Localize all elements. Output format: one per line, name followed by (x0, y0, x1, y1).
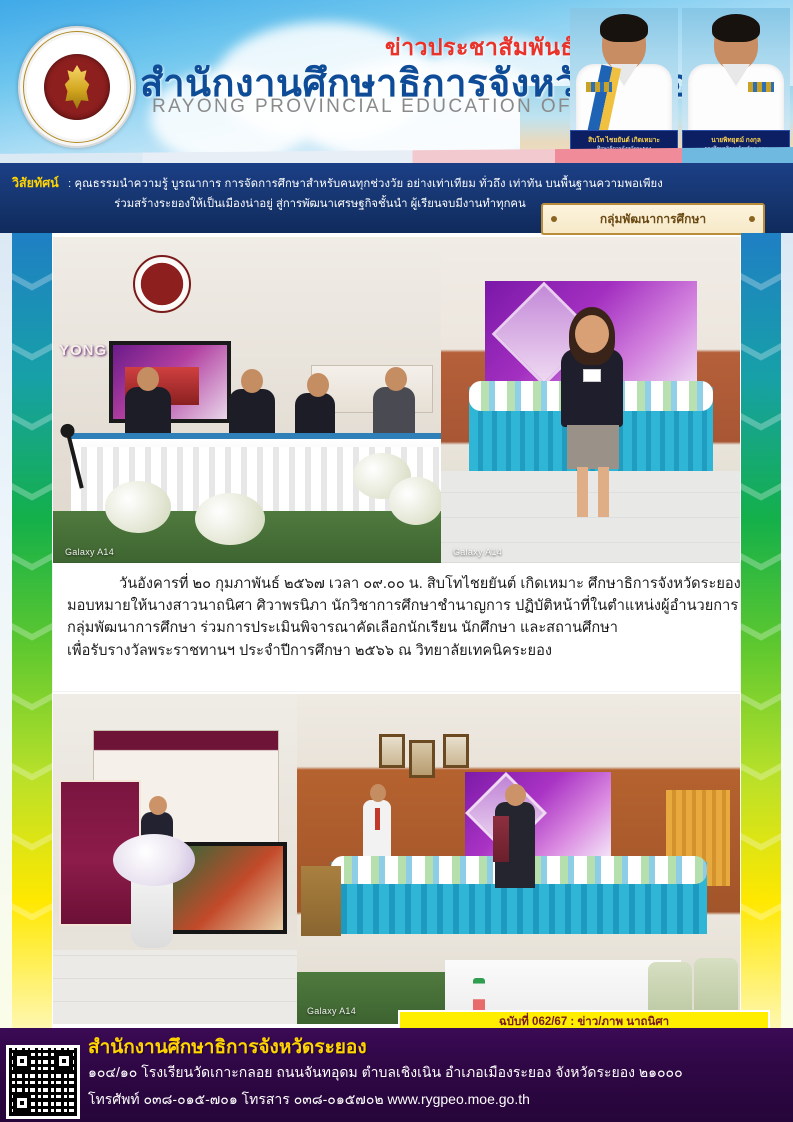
wall-text: YONG (59, 342, 107, 359)
right-chevron-border (741, 233, 781, 1028)
speaker-with-microphone (495, 802, 535, 888)
right-background-strip (779, 233, 793, 1028)
flower-arrangement (195, 493, 265, 545)
hair (600, 14, 648, 42)
officer-portrait-1: สิบโท ไชยยันต์ เกิดเหมาะ ศึกษาธิการจังหว… (570, 8, 678, 160)
office-title-en: RAYONG PROVINCIAL EDUCATION OFFICE (152, 96, 625, 118)
royal-portrait-frame (409, 740, 435, 778)
footer-contact: โทรศัพท์ ๐๓๘-๐๑๕-๗๐๑ โทรสาร ๐๓๘-๐๑๕๗๐๒ w… (88, 1089, 530, 1111)
photo-meeting-panel: YONG Galaxy A14 (53, 237, 441, 567)
water-bottle-icon (473, 978, 485, 1012)
flower-arrangement (105, 481, 171, 533)
officer-name: นายพิทยุตม์ กงกุล (711, 137, 761, 144)
department-badge: กลุ่มพัฒนาการศึกษา (541, 203, 765, 235)
presenter-legs (575, 467, 611, 517)
header-banner: ข่าวประชาสัมพันธ์ สำนักงานศึกษาธิการจังห… (0, 0, 793, 165)
photo-auditorium: Galaxy A14 (297, 694, 740, 1024)
name-tag-icon (583, 369, 601, 382)
article-body: วันอังคารที่ ๒๐ กุมภาพันธ์ ๒๕๖๗ เวลา ๐๙.… (53, 563, 740, 691)
qr-finder-icon (13, 1052, 31, 1070)
portrait-image (682, 8, 790, 130)
vision-line-1: : คุณธรรมนำความรู้ บูรณาการ การจัดการศึก… (68, 174, 768, 192)
portrait-image (570, 8, 678, 130)
qr-finder-icon (13, 1094, 31, 1112)
officer-name: สิบโท ไชยยันต์ เกิดเหมาะ (588, 137, 660, 144)
royal-portrait-frame (379, 734, 405, 768)
article-line-4: เพื่อรับรางวัลพระราชทานฯ ประจำปีการศึกษา… (67, 640, 726, 662)
qr-finder-icon (55, 1052, 73, 1070)
podium (301, 866, 341, 936)
article-line-2: มอบหมายให้นางสาวนาถนิศา ศิวาพรนิภา นักวิ… (67, 595, 726, 617)
college-seal-icon (133, 255, 191, 313)
photo-watermark: Galaxy A14 (453, 547, 502, 557)
hair (712, 14, 760, 42)
royal-portrait-frame (443, 734, 469, 768)
vision-line-2: ร่วมสร้างระยองให้เป็นเมืองน่าอยู่ สู่การ… (40, 194, 600, 212)
medals-icon (586, 82, 612, 92)
officer-portrait-2: นายพิทยุตม์ กงกุล รองศึกษาธิการจังหวัดระ… (682, 8, 790, 160)
vision-label: วิสัยทัศน์ (12, 173, 59, 193)
flower-bouquet (113, 834, 195, 886)
department-badge-label: กลุ่มพัฒนาการศึกษา (600, 210, 706, 229)
office-seal-logo (18, 26, 136, 148)
presenter-face (575, 315, 609, 353)
footer-address: ๑๐๔/๑๐ โรงเรียนวัดเกาะกลอย ถนนจันทอุดม ต… (88, 1062, 683, 1084)
photo-exhibition-booth (53, 694, 297, 1024)
article-line-3: กลุ่มพัฒนาการศึกษา ร่วมการประเมินพิจารณา… (67, 617, 726, 639)
footer-office-name: สำนักงานศึกษาธิการจังหวัดระยอง (88, 1032, 367, 1062)
left-chevron-border (12, 233, 52, 1028)
qr-code[interactable] (6, 1045, 80, 1119)
photo-watermark: Galaxy A14 (307, 1006, 356, 1016)
photo-presenter: Galaxy A14 (441, 237, 740, 567)
flower-arrangement (389, 477, 441, 525)
presenter-skirt (567, 425, 619, 469)
event-backdrop-screen (465, 772, 611, 856)
medals-icon (748, 82, 774, 92)
standing-attendee (363, 800, 391, 862)
photo-watermark: Galaxy A14 (65, 547, 114, 557)
necktie (375, 808, 380, 830)
tiled-floor (53, 950, 297, 1024)
shawl (493, 816, 509, 862)
article-line-1: วันอังคารที่ ๒๐ กุมภาพันธ์ ๒๕๖๗ เวลา ๐๙.… (67, 573, 726, 595)
